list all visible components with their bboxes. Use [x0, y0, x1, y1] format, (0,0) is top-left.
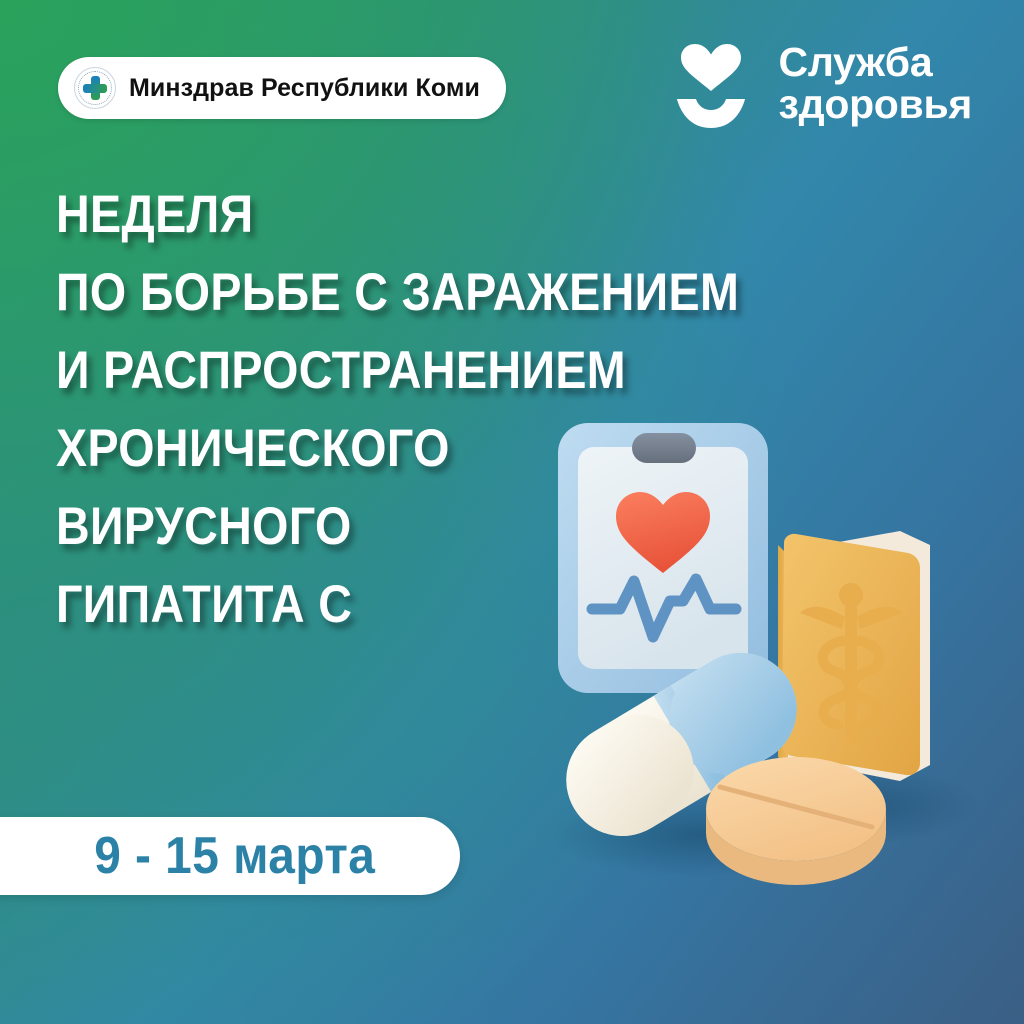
headline-line-3: И РАСПРОСТРАНЕНИЕМ [56, 332, 690, 410]
service-logo-line2: здоровья [779, 84, 972, 126]
headline-line-1: НЕДЕЛЯ [56, 176, 690, 254]
clipboard-heart-ecg [558, 423, 768, 693]
date-badge-label: 9 - 15 марта [95, 826, 376, 886]
heart-smile-icon [663, 42, 759, 130]
ministry-badge-label: Минздрав Республики Коми [129, 74, 480, 103]
ministry-badge: Минздрав Республики Коми [58, 57, 506, 119]
poster-canvas: Минздрав Республики Коми Служба здоровья… [0, 0, 1024, 1024]
date-badge: 9 - 15 марта [0, 817, 460, 895]
medical-3d-illustration [520, 405, 1020, 925]
ministry-seal-cross-icon [74, 67, 116, 109]
service-logo: Служба здоровья [663, 42, 972, 130]
service-logo-line1: Служба [779, 42, 972, 84]
headline-line-2: ПО БОРЬБЕ С ЗАРАЖЕНИЕМ [56, 254, 690, 332]
medical-book-caduceus [778, 531, 930, 781]
round-tablet [706, 757, 886, 885]
service-logo-text: Служба здоровья [779, 42, 972, 126]
